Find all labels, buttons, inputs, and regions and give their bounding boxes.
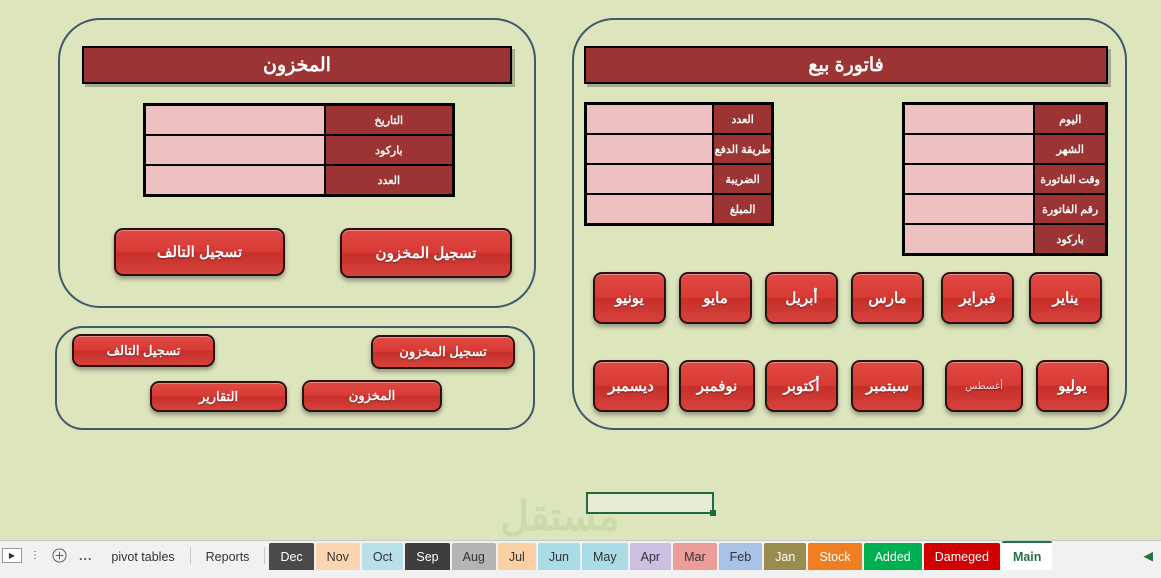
sheet-tab-bar[interactable]: ▶ ⋮ ... pivot tables Reports Dec Nov Oct… (0, 540, 1161, 570)
field-input-month[interactable] (904, 134, 1034, 164)
stock-banner-label: المخزون (263, 54, 331, 77)
field-label-payment-method: طريقة الدفع (713, 134, 772, 164)
sheet-tab-may[interactable]: May (582, 543, 628, 570)
field-input-invoice-number[interactable] (904, 194, 1034, 224)
field-label-amount: المبلغ (713, 194, 772, 224)
record-damaged-button[interactable]: تسجيل التالف (114, 228, 285, 276)
field-input-amount[interactable] (586, 194, 713, 224)
field-label-day: اليوم (1034, 104, 1106, 134)
tab-divider (190, 547, 191, 564)
record-stock-button[interactable]: تسجيل المخزون (340, 228, 512, 278)
table-row: باركود (904, 224, 1106, 254)
tab-nav-right[interactable]: ◀ (1135, 541, 1161, 570)
table-row: الشهر (904, 134, 1106, 164)
invoice-banner-label: فاتورة بيع (808, 54, 884, 77)
sheet-tab-mar[interactable]: Mar (673, 543, 717, 570)
fill-handle[interactable] (710, 510, 716, 516)
field-input-barcode[interactable] (904, 224, 1034, 254)
sheet-tab-jul[interactable]: Jul (498, 543, 536, 570)
nav-record-stock-button[interactable]: تسجيل المخزون (371, 335, 515, 369)
month-button-february[interactable]: فبراير (941, 272, 1014, 324)
table-row: التاريخ (145, 105, 453, 135)
add-sheet-button[interactable] (46, 541, 72, 570)
field-input-date[interactable] (145, 105, 325, 135)
field-label-tax: الضريبة (713, 164, 772, 194)
sheet-tab-jan[interactable]: Jan (764, 543, 806, 570)
table-row: العدد (145, 165, 453, 195)
field-input-count[interactable] (145, 165, 325, 195)
table-row: طريقة الدفع (586, 134, 772, 164)
field-label-invoice-time: وقت الفاتورة (1034, 164, 1106, 194)
invoice-amount-table: العدد طريقة الدفع الضريبة المبلغ (584, 102, 774, 226)
month-button-september[interactable]: سبتمبر (851, 360, 924, 412)
tab-scroll-right-icon[interactable]: ▶ (2, 548, 22, 563)
table-row: المبلغ (586, 194, 772, 224)
month-button-april[interactable]: أبريل (765, 272, 838, 324)
invoice-meta-table: اليوم الشهر وقت الفاتورة رقم الفاتورة با… (902, 102, 1108, 256)
sheet-tab-main[interactable]: Main (1002, 541, 1052, 570)
tab-divider (264, 547, 265, 564)
plus-circle-icon (52, 548, 67, 563)
month-button-july[interactable]: يوليو (1036, 360, 1109, 412)
month-button-november[interactable]: نوفمبر (679, 360, 755, 412)
month-button-october[interactable]: أكتوبر (765, 360, 838, 412)
sheet-tab-feb[interactable]: Feb (719, 543, 763, 570)
selected-cell[interactable] (586, 492, 714, 514)
tab-menu-icon[interactable]: ⋮ (24, 541, 46, 570)
field-input-count[interactable] (586, 104, 713, 134)
month-button-january[interactable]: يناير (1029, 272, 1102, 324)
sheet-tab-sep[interactable]: Sep (405, 543, 449, 570)
table-row: العدد (586, 104, 772, 134)
table-row: وقت الفاتورة (904, 164, 1106, 194)
field-label-barcode: باركود (325, 135, 453, 165)
sheet-tab-dameged[interactable]: Dameged (924, 543, 1000, 570)
field-label-date: التاريخ (325, 105, 453, 135)
sheet-tab-stock[interactable]: Stock (808, 543, 861, 570)
sheet-tab-jun[interactable]: Jun (538, 543, 580, 570)
sheet-tab-added[interactable]: Added (864, 543, 922, 570)
table-row: اليوم (904, 104, 1106, 134)
stock-entry-table: التاريخ باركود العدد (143, 103, 455, 197)
table-row: رقم الفاتورة (904, 194, 1106, 224)
month-button-august[interactable]: أغسطس (945, 360, 1023, 412)
sheet-tab-nov[interactable]: Nov (316, 543, 360, 570)
field-label-count: العدد (325, 165, 453, 195)
sheet-tab-aug[interactable]: Aug (452, 543, 496, 570)
field-label-invoice-number: رقم الفاتورة (1034, 194, 1106, 224)
tab-overflow-icon[interactable]: ... (72, 541, 99, 570)
invoice-banner: فاتورة بيع (584, 46, 1108, 84)
tab-scroll-left-icon[interactable]: ◀ (1143, 548, 1153, 563)
month-button-march[interactable]: مارس (851, 272, 924, 324)
field-label-count: العدد (713, 104, 772, 134)
status-bar-strip (0, 570, 1161, 578)
stock-banner: المخزون (82, 46, 512, 84)
month-button-may[interactable]: مايو (679, 272, 752, 324)
field-input-invoice-time[interactable] (904, 164, 1034, 194)
sheet-tab-reports[interactable]: Reports (195, 543, 261, 570)
sheet-tab-apr[interactable]: Apr (630, 543, 671, 570)
field-label-barcode: باركود (1034, 224, 1106, 254)
nav-stock-button[interactable]: المخزون (302, 380, 442, 412)
nav-record-damaged-button[interactable]: تسجيل التالف (72, 334, 215, 367)
field-input-barcode[interactable] (145, 135, 325, 165)
table-row: الضريبة (586, 164, 772, 194)
sheet-tab-dec[interactable]: Dec (269, 543, 313, 570)
worksheet-canvas[interactable]: مستقل المخزون التاريخ باركود العدد تسجيل… (0, 0, 1161, 540)
field-input-day[interactable] (904, 104, 1034, 134)
field-label-month: الشهر (1034, 134, 1106, 164)
month-button-june[interactable]: يونيو (593, 272, 666, 324)
sheet-tab-oct[interactable]: Oct (362, 543, 403, 570)
sheet-tab-pivot-tables[interactable]: pivot tables (100, 543, 185, 570)
month-button-december[interactable]: ديسمبر (593, 360, 669, 412)
table-row: باركود (145, 135, 453, 165)
field-input-tax[interactable] (586, 164, 713, 194)
field-input-payment-method[interactable] (586, 134, 713, 164)
nav-reports-button[interactable]: التقارير (150, 381, 287, 412)
